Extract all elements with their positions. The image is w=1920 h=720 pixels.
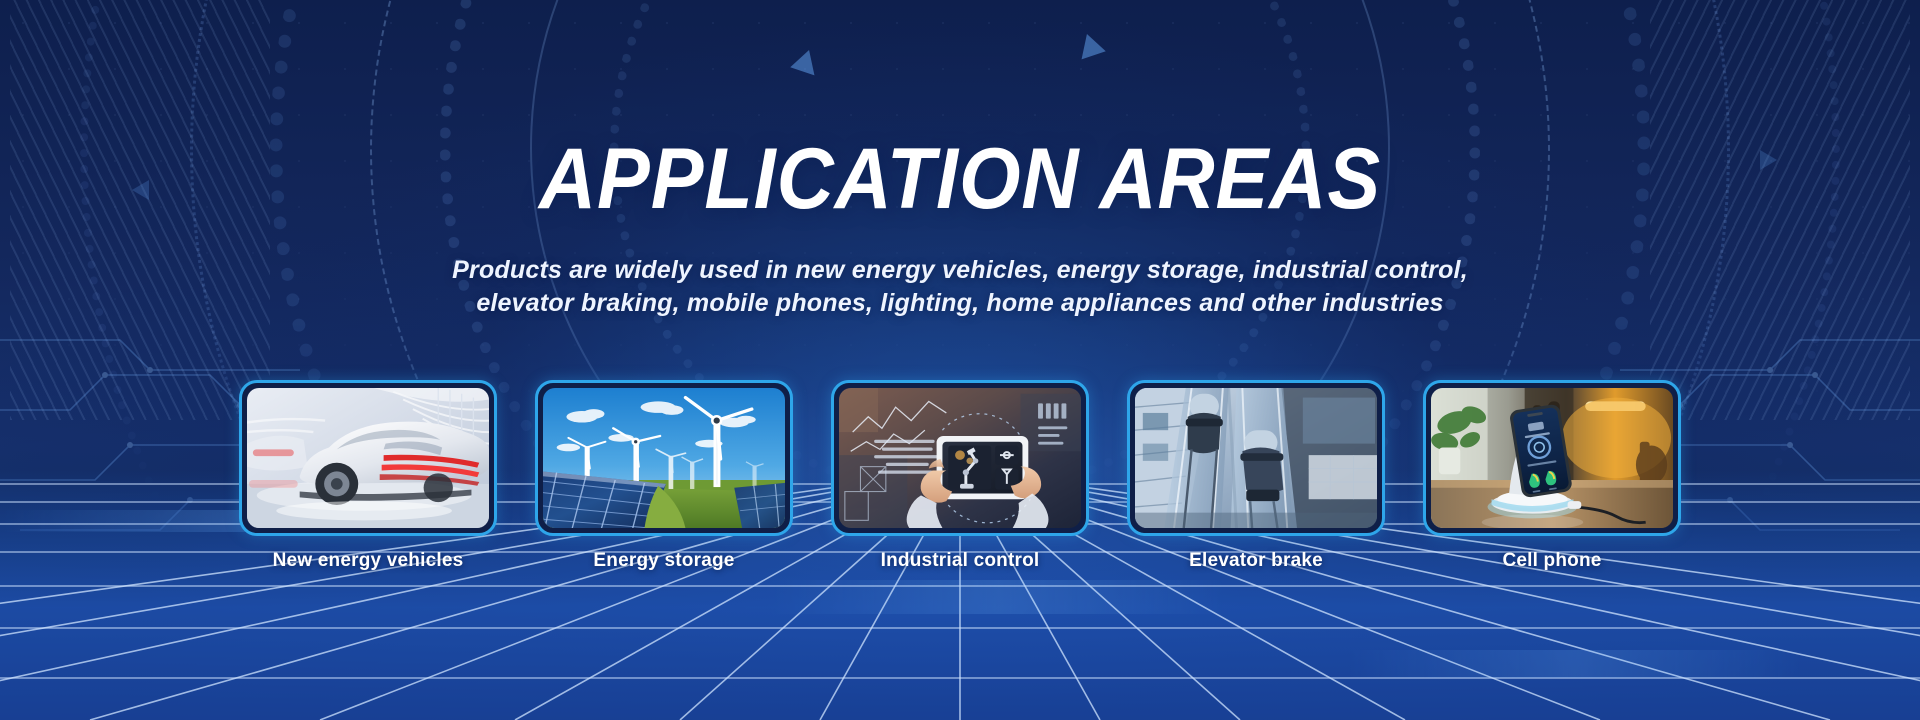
page-title: APPLICATION AREAS [77, 136, 1843, 222]
photo-glass-elevators [1135, 388, 1377, 528]
banner-content: APPLICATION AREAS Products are widely us… [0, 0, 1920, 720]
card-label: Elevator brake [1189, 550, 1323, 572]
application-card-industrial-control[interactable]: Industrial control [831, 380, 1089, 572]
card-image-frame [1423, 380, 1681, 536]
card-image-frame [831, 380, 1089, 536]
subtitle-line-1: Products are widely used in new energy v… [0, 254, 1920, 287]
card-image-frame [239, 380, 497, 536]
card-label: Cell phone [1502, 550, 1601, 572]
photo-phone-charging-stand [1431, 388, 1673, 528]
photo-solar-wind-farm [543, 388, 785, 528]
application-card-elevator-brake[interactable]: Elevator brake [1127, 380, 1385, 572]
photo-sports-car [247, 388, 489, 528]
card-image-frame [535, 380, 793, 536]
card-label: New energy vehicles [273, 550, 464, 572]
card-label: Industrial control [881, 550, 1040, 572]
page-subtitle: Products are widely used in new energy v… [0, 254, 1920, 320]
card-label: Energy storage [593, 550, 734, 572]
application-card-list: New energy vehicles [0, 380, 1920, 572]
application-card-new-energy-vehicles[interactable]: New energy vehicles [239, 380, 497, 572]
photo-tablet-robot-arm [839, 388, 1081, 528]
subtitle-line-2: elevator braking, mobile phones, lightin… [0, 287, 1920, 320]
application-areas-banner: APPLICATION AREAS Products are widely us… [0, 0, 1920, 720]
application-card-cell-phone[interactable]: Cell phone [1423, 380, 1681, 572]
application-card-energy-storage[interactable]: Energy storage [535, 380, 793, 572]
card-image-frame [1127, 380, 1385, 536]
